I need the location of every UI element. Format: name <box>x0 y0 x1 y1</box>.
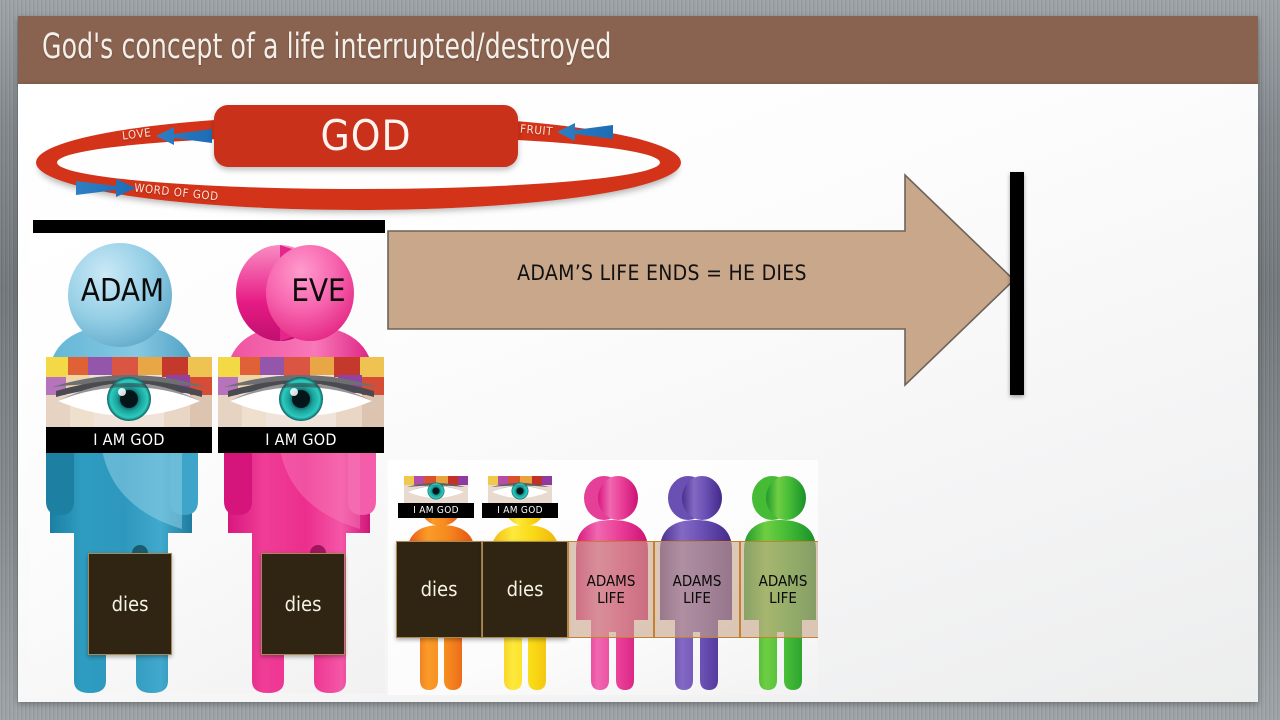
arrow-fruit-icon <box>555 121 615 143</box>
eve-dies-box: dies <box>261 553 345 655</box>
group-figure-4-adams-life-box: ADAMS LIFE <box>654 541 740 638</box>
adam-i-am-god-banner: I AM GOD <box>46 427 212 453</box>
adam-eye-image <box>46 357 212 427</box>
adams-life-ends-arrow: ADAM’S LIFE ENDS = HE DIES <box>387 173 1015 388</box>
cycle-label-fruit: FRUIT <box>519 122 553 139</box>
arrow-word-of-god-icon <box>74 176 138 200</box>
adams-life-label-2: ADAMS LIFE <box>669 573 725 607</box>
figure-eve-name: EVE <box>236 273 385 309</box>
eve-eye-image <box>218 357 384 427</box>
slide-content-area: LOVE FRUIT WORD OF GOD GOD <box>18 84 1258 702</box>
god-label: GOD <box>214 105 518 167</box>
group-figure-1-eye-image <box>404 476 468 503</box>
adam-eve-panel: ADAM <box>30 233 385 693</box>
group-figure-2-eye-image <box>488 476 552 503</box>
group-figure-2-dies-box: dies <box>482 541 568 638</box>
god-center-box: GOD <box>214 105 518 167</box>
eve-i-am-god-banner: I AM GOD <box>218 427 384 453</box>
group-figure-1-i-am-god-banner: I AM GOD <box>398 503 474 518</box>
page-title: God's concept of a life interrupted/dest… <box>42 27 612 67</box>
arrow-love-icon <box>154 125 214 147</box>
group-figure-3-adams-life-box: ADAMS LIFE <box>568 541 654 638</box>
life-end-black-bar <box>1010 172 1024 395</box>
adams-life-label-3: ADAMS LIFE <box>755 573 811 607</box>
group-figure-2-i-am-god-banner: I AM GOD <box>482 503 558 518</box>
adam-eve-top-black-bar <box>33 220 385 233</box>
adams-life-label-1: ADAMS LIFE <box>583 573 639 607</box>
group-figure-1-dies-box: dies <box>396 541 482 638</box>
group-figure-5-adams-life-box: ADAMS LIFE <box>740 541 818 638</box>
group-figures-panel: I AM GOD I AM GOD dies dies ADAMS LIFE A… <box>388 460 818 695</box>
slide-title-bar: God's concept of a life interrupted/dest… <box>18 16 1258 84</box>
figure-adam-name: ADAM <box>40 273 205 309</box>
adams-life-ends-label: ADAM’S LIFE ENDS = HE DIES <box>447 261 877 285</box>
adam-dies-box: dies <box>88 553 172 655</box>
